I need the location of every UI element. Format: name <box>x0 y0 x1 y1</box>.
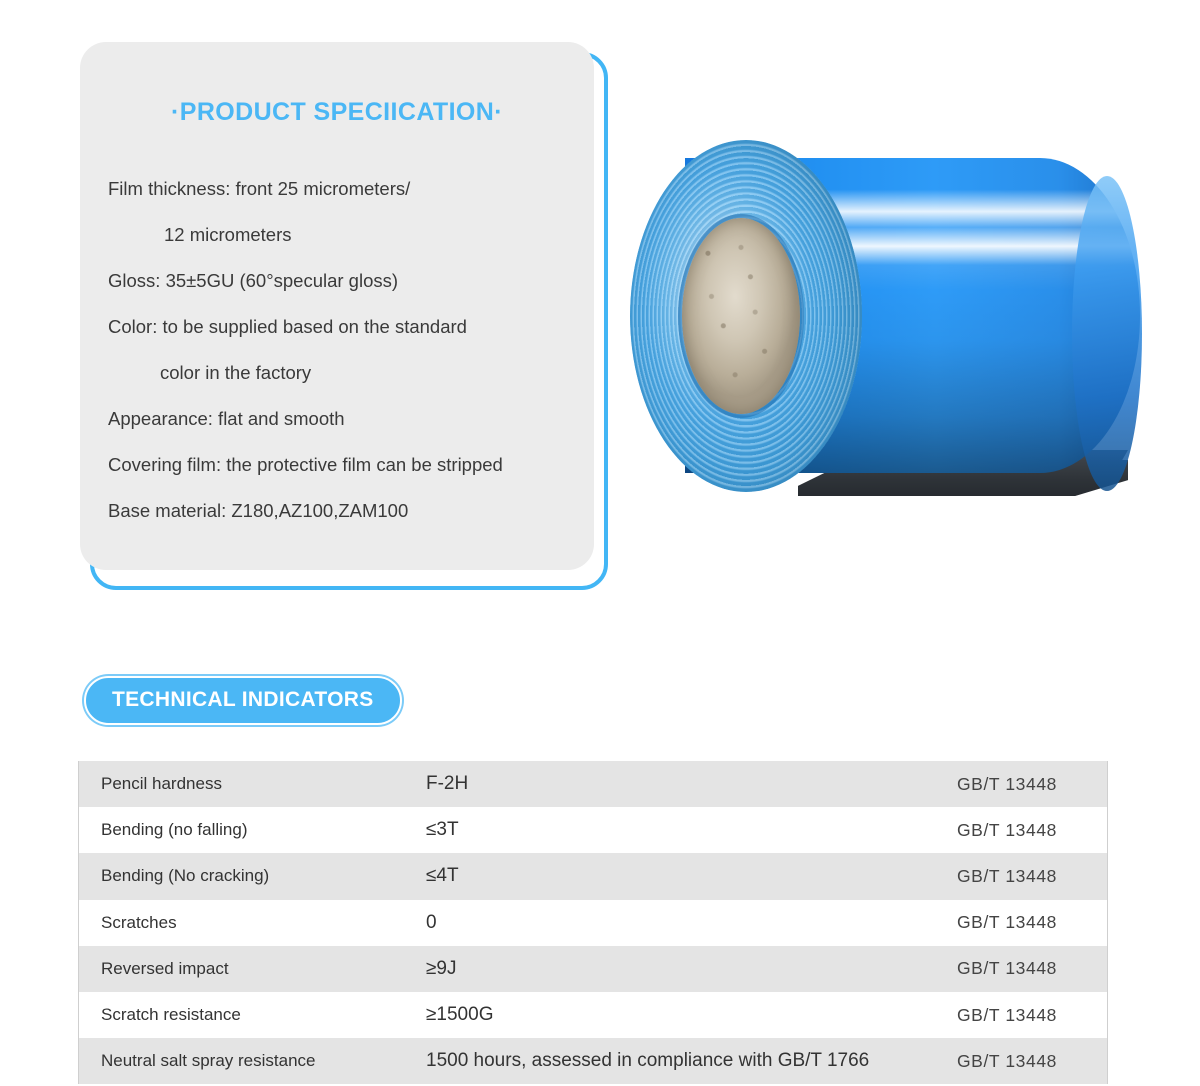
row-standard: GB/T 13448 <box>907 1051 1107 1072</box>
spec-line-covering-film: Covering film: the protective film can b… <box>108 442 578 488</box>
product-specification-page: ·PRODUCT SPECIICATION· Film thickness: f… <box>0 0 1200 1086</box>
spec-line-color-cont: color in the factory <box>108 350 578 396</box>
row-item: Pencil hardness <box>79 774 426 794</box>
table-row: Pencil hardness F-2H GB/T 13448 <box>79 761 1107 807</box>
row-standard: GB/T 13448 <box>907 820 1107 841</box>
table-row: Bending (no falling) ≤3T GB/T 13448 <box>79 807 1107 853</box>
row-standard: GB/T 13448 <box>907 774 1107 795</box>
spec-line-color: Color: to be supplied based on the stand… <box>108 304 578 350</box>
row-item: Scratches <box>79 913 426 933</box>
coil-far-end-cap <box>1072 176 1142 491</box>
row-value: 1500 hours, assessed in compliance with … <box>426 1050 907 1072</box>
table-row: Reversed impact ≥9J GB/T 13448 <box>79 946 1107 992</box>
row-item: Scratch resistance <box>79 1005 426 1025</box>
row-standard: GB/T 13448 <box>907 912 1107 933</box>
row-value: 0 <box>426 912 907 934</box>
table-row: Scratches 0 GB/T 13448 <box>79 900 1107 946</box>
coil-core-hole <box>682 218 800 414</box>
row-value: ≤3T <box>426 819 907 841</box>
spec-line-appearance: Appearance: flat and smooth <box>108 396 578 442</box>
row-item: Bending (no falling) <box>79 820 426 840</box>
row-standard: GB/T 13448 <box>907 1005 1107 1026</box>
product-specification-title: ·PRODUCT SPECIICATION· <box>80 98 594 127</box>
row-standard: GB/T 13448 <box>907 958 1107 979</box>
product-image-steel-coil <box>630 140 1180 560</box>
row-item: Reversed impact <box>79 959 426 979</box>
spec-line-film-thickness-cont: 12 micrometers <box>108 212 578 258</box>
table-row: Scratch resistance ≥1500G GB/T 13448 <box>79 992 1107 1038</box>
spec-line-gloss: Gloss: 35±5GU (60°specular gloss) <box>108 258 578 304</box>
table-row: Bending (No cracking) ≤4T GB/T 13448 <box>79 853 1107 899</box>
product-specification-card: ·PRODUCT SPECIICATION· Film thickness: f… <box>80 42 608 590</box>
row-value: F-2H <box>426 773 907 795</box>
technical-indicators-table: Pencil hardness F-2H GB/T 13448 Bending … <box>78 761 1108 1084</box>
row-value: ≤4T <box>426 865 907 887</box>
spec-line-film-thickness: Film thickness: front 25 micrometers/ <box>108 166 578 212</box>
table-row: Neutral salt spray resistance 1500 hours… <box>79 1038 1107 1084</box>
row-value: ≥9J <box>426 958 907 980</box>
specification-list: Film thickness: front 25 micrometers/ 12… <box>108 166 578 534</box>
spec-line-base-material: Base material: Z180,AZ100,ZAM100 <box>108 488 578 534</box>
row-item: Bending (No cracking) <box>79 866 426 886</box>
row-item: Neutral salt spray resistance <box>79 1051 426 1071</box>
card-surface: ·PRODUCT SPECIICATION· Film thickness: f… <box>80 42 594 570</box>
technical-indicators-badge: TECHNICAL INDICATORS <box>84 676 402 725</box>
row-standard: GB/T 13448 <box>907 866 1107 887</box>
row-value: ≥1500G <box>426 1004 907 1026</box>
coil-side-face <box>630 140 862 492</box>
